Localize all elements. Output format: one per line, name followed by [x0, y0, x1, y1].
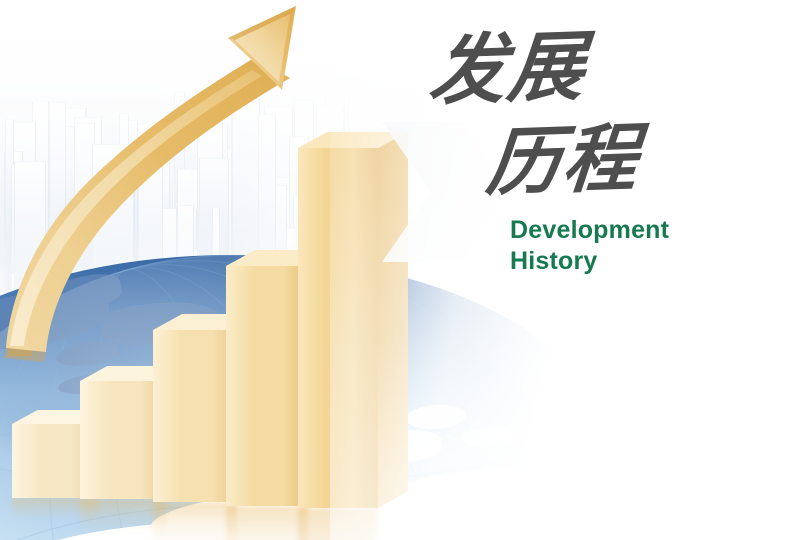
heading-english-line1: Development	[510, 214, 669, 248]
heading-chinese-line1: 发展	[426, 29, 589, 110]
bar-reflection	[153, 502, 237, 540]
development-history-banner: 发展 历程 Development History	[0, 0, 800, 540]
bar-side-face	[378, 132, 408, 509]
bar-reflection	[298, 508, 378, 540]
heading-chinese-line2: 历程	[483, 122, 642, 201]
bar-reflection	[226, 506, 308, 540]
heading-english-line2: History	[510, 245, 598, 279]
trend-up-arrow-icon	[0, 4, 320, 364]
